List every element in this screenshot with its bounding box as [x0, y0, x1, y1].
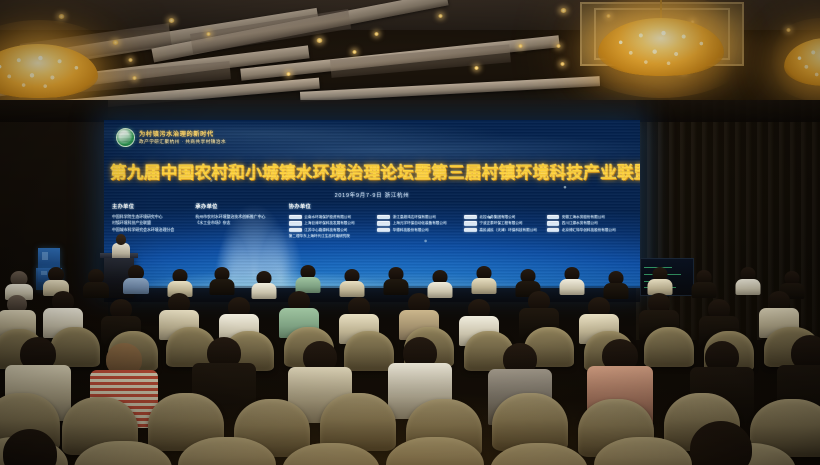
sponsor-entry: 云南水环境保护投资有限公司 [289, 214, 377, 221]
audience-member [692, 270, 716, 296]
audience-member [604, 271, 628, 297]
audience-member [560, 267, 584, 293]
sponsor-logo-icon [547, 221, 559, 226]
audience-member [210, 267, 234, 293]
audience-member [44, 267, 68, 293]
audience-member [168, 269, 192, 295]
sponsor-logo-icon [377, 228, 390, 233]
sponsor-name: 村镇环境科技产业联盟 [112, 220, 151, 227]
audience-member [736, 267, 760, 293]
back-wall-upper [0, 100, 820, 122]
audience-member [84, 269, 108, 295]
sponsor-logo-icon [289, 215, 302, 220]
sponsor-name: 上海巨涛环保科技发展有限公司 [304, 220, 354, 227]
sponsor-entry: 北控水务集团有限公司 [464, 214, 547, 221]
sponsor-name: 第二理华东上海环代江生态环境研究院 [289, 233, 350, 240]
sponsor-logo-icon [377, 215, 390, 220]
sponsor-name: 四川江源水务有限公司 [562, 220, 598, 227]
sponsor-grid: 主办单位 中国科学院生态环境研究中心 村镇环境科技产业联盟 中国城市科学研究会水… [112, 204, 634, 240]
sponsor-name: 中国城市科学研究会水环境治理分会 [112, 227, 174, 234]
presenter-torso [112, 243, 130, 258]
event-main-title: 第九届中国农村和小城镇水环境治理论坛暨第三届村镇环境科技产业联盟论坛 [110, 162, 634, 184]
audience-chair [344, 331, 394, 371]
audience-member [6, 271, 32, 297]
sponsor-entry: 上海元宇环保自动化装备有限公司 [377, 220, 464, 227]
sponsor-name: 浙江皇超鸿达环保有限公司 [393, 214, 436, 221]
sponsor-name: 上海元宇环保自动化装备有限公司 [393, 220, 447, 227]
sponsor-entry: 第二理华东上海环代江生态环境研究院 [289, 233, 377, 240]
sponsor-logo-icon [464, 228, 477, 233]
sponsor-column: 北控水务集团有限公司 宁波正泰环保工程有限公司 高民诚民（天津）环保科技有限公司 [464, 204, 547, 233]
sponsor-name: 《水工业市场》杂志 [195, 220, 230, 227]
chandelier-center [588, 0, 734, 84]
sponsor-name: 北京博汇特华创科技股份有限公司 [562, 227, 616, 234]
event-date-location: 2019年9月7-9日 浙江杭州 [110, 192, 634, 200]
sponsor-entry: 《水工业市场》杂志 [195, 220, 288, 227]
audience-member [782, 335, 820, 407]
sponsor-logo-icon [289, 228, 302, 233]
sponsor-entry: 安徽工海水务股份有限公司 [547, 214, 634, 221]
sponsor-column: 浙江皇超鸿达环保有限公司 上海元宇环保自动化装备有限公司 华德科技股份有限公司 [377, 204, 464, 233]
sponsor-name: 云南水环境保护投资有限公司 [304, 214, 351, 221]
logo-slogan-line-2: 政产学研汇聚杭州 · 共商共享村镇治水 [139, 139, 226, 145]
organization-emblem-icon [116, 128, 135, 147]
audience-member [340, 269, 364, 295]
sponsor-column: 主办单位 中国科学院生态环境研究中心 村镇环境科技产业联盟 中国城市科学研究会水… [112, 204, 195, 233]
sponsor-column-heading: 承办单位 [195, 204, 288, 211]
event-logo-lockup: 为村镇污水治理的新时代 政产学研汇聚杭州 · 共商共享村镇治水 [116, 128, 226, 147]
sponsor-logo-icon [464, 215, 477, 220]
sponsor-entry: 村镇环境科技产业联盟 [112, 220, 195, 227]
sponsor-name: 北控水务集团有限公司 [479, 214, 515, 221]
audience-member-foreground [676, 421, 766, 465]
led-stage-screen: 为村镇污水治理的新时代 政产学研汇聚杭州 · 共商共享村镇治水 第九届中国农村和… [104, 120, 640, 288]
logo-slogan-line-1: 为村镇污水治理的新时代 [139, 131, 226, 138]
audience-member [296, 265, 320, 291]
audience-member [252, 271, 276, 297]
chandelier-left [0, 30, 104, 102]
conference-hall-photo: 为村镇污水治理的新时代 政产学研汇聚杭州 · 共商共享村镇治水 第九届中国农村和… [0, 0, 820, 465]
sponsor-column: 安徽工海水务股份有限公司 四川江源水务有限公司 北京博汇特华创科技股份有限公司 [547, 204, 634, 233]
audience-member [648, 267, 672, 293]
sponsor-name: 宁波正泰环保工程有限公司 [479, 220, 522, 227]
audience-member [124, 265, 148, 291]
sponsor-entry: 华德科技股份有限公司 [377, 227, 464, 234]
sponsor-entry: 北京博汇特华创科技股份有限公司 [547, 227, 634, 234]
sponsor-entry: 宁波正泰环保工程有限公司 [464, 220, 547, 227]
audience-seating [0, 265, 820, 465]
sponsor-name: 安徽工海水务股份有限公司 [562, 214, 605, 221]
audience-chair [644, 327, 694, 367]
sponsor-entry: 中国城市科学研究会水环境治理分会 [112, 227, 195, 234]
sponsor-entry: 上海巨涛环保科技发展有限公司 [289, 220, 377, 227]
sponsor-entry: 四川江源水务有限公司 [547, 220, 634, 227]
audience-member [472, 266, 496, 292]
sponsor-column-heading: 协办单位 [289, 204, 377, 211]
sponsor-entry: 浙江皇超鸿达环保有限公司 [377, 214, 464, 221]
sponsor-logo-icon [377, 221, 390, 226]
audience-member-foreground [0, 429, 70, 465]
sponsor-column: 协办单位 云南水环境保护投资有限公司 上海巨涛环保科技发展有限公司 江苏中心路源… [289, 204, 377, 240]
sponsor-name: 江苏中心路源科技有限公司 [304, 227, 347, 234]
sponsor-logo-icon [547, 215, 559, 220]
sponsor-entry: 高民诚民（天津）环保科技有限公司 [464, 227, 547, 234]
sponsor-logo-icon [289, 221, 302, 226]
sponsor-logo-icon [464, 221, 477, 226]
sponsor-name: 高民诚民（天津）环保科技有限公司 [479, 227, 537, 234]
audience-member [384, 267, 408, 293]
sponsor-name: 华德科技股份有限公司 [393, 227, 429, 234]
sponsor-column-heading: 主办单位 [112, 204, 195, 211]
chandelier-right [778, 26, 820, 92]
sponsor-logo-icon [547, 228, 559, 233]
presenter-head [116, 234, 126, 245]
sponsor-column: 承办单位 杭州市农村水环境整治技术创新推广中心 《水工业市场》杂志 [195, 204, 288, 227]
sponsor-entry: 江苏中心路源科技有限公司 [289, 227, 377, 234]
